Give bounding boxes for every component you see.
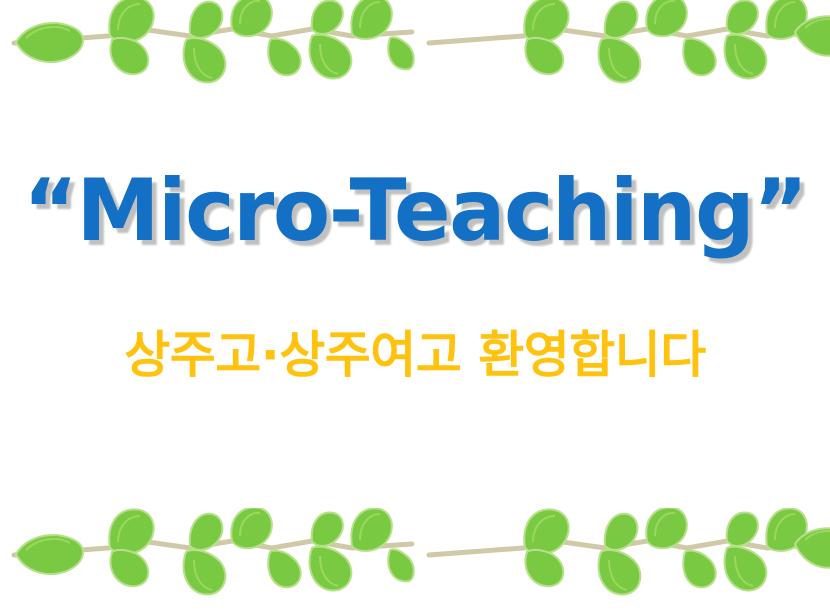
slide-title: “Micro-Teaching” bbox=[23, 168, 806, 254]
vine-branch-graphic bbox=[415, 508, 830, 613]
presentation-slide: “Micro-Teaching” 상주고·상주여고 환영합니다 bbox=[0, 0, 830, 613]
leaf bbox=[727, 513, 758, 547]
leaf bbox=[310, 547, 352, 591]
leaf bbox=[312, 1, 343, 35]
leaf bbox=[351, 0, 392, 39]
leaf bbox=[190, 514, 223, 550]
leaf bbox=[524, 509, 568, 553]
leaf bbox=[795, 528, 830, 568]
leaf bbox=[766, 0, 807, 39]
leaf bbox=[109, 0, 153, 42]
leaf bbox=[109, 509, 153, 553]
leaf bbox=[525, 38, 563, 74]
leaf bbox=[795, 16, 830, 56]
leaf bbox=[525, 550, 563, 586]
leaf bbox=[231, 0, 272, 36]
top-vine-decoration bbox=[0, 0, 830, 106]
leaf bbox=[683, 551, 715, 588]
leaf bbox=[184, 550, 226, 594]
slide-subtitle-container: 상주고·상주여고 환영합니다 bbox=[0, 328, 830, 383]
leaf bbox=[388, 549, 414, 581]
leaf bbox=[184, 38, 226, 82]
leaf bbox=[599, 550, 641, 594]
leaf bbox=[605, 2, 638, 38]
leaf bbox=[646, 508, 687, 548]
leaf bbox=[388, 37, 414, 69]
leaf bbox=[16, 535, 83, 574]
leaf bbox=[766, 508, 807, 551]
leaf bbox=[190, 2, 223, 38]
vine-branch-graphic bbox=[0, 0, 415, 106]
leaf bbox=[605, 514, 638, 550]
leaf bbox=[268, 39, 300, 76]
leaf bbox=[351, 508, 392, 551]
leaf bbox=[312, 513, 343, 547]
leaf bbox=[16, 23, 83, 62]
slide-title-container: “Micro-Teaching” bbox=[0, 168, 830, 254]
leaf bbox=[310, 35, 352, 79]
bottom-vine-decoration bbox=[0, 508, 830, 613]
leaf bbox=[268, 551, 300, 588]
leaf bbox=[524, 0, 568, 42]
vine-branch-graphic bbox=[0, 508, 415, 613]
leaf bbox=[110, 38, 148, 74]
slide-subtitle: 상주고·상주여고 환영합니다 bbox=[124, 328, 705, 383]
leaf bbox=[599, 38, 641, 82]
leaf bbox=[727, 1, 758, 35]
vine-branch-graphic bbox=[415, 0, 830, 106]
leaf bbox=[683, 39, 715, 76]
leaf bbox=[110, 550, 148, 586]
leaf bbox=[646, 0, 687, 36]
leaf bbox=[231, 508, 272, 548]
leaf bbox=[725, 35, 767, 79]
leaf bbox=[725, 547, 767, 591]
